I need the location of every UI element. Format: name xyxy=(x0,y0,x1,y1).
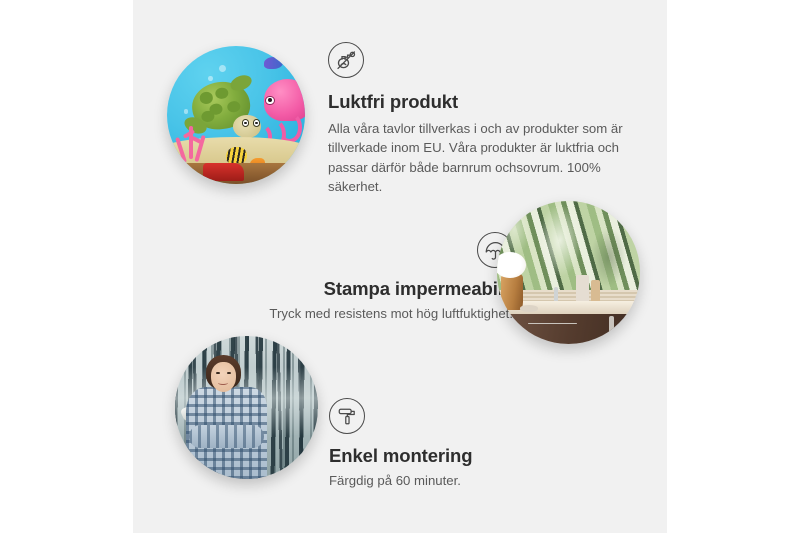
feature-title: Enkel montering xyxy=(329,445,629,467)
feature-mounting: Enkel montering Färgdig på 60 minuter. xyxy=(329,398,629,490)
painter-woman-photo xyxy=(175,336,318,479)
content-panel: Luktfri produkt Alla våra tavlor tillver… xyxy=(133,0,667,533)
promo-banner: Luktfri produkt Alla våra tavlor tillver… xyxy=(0,0,800,533)
feature-waterproof: Stampa impermeabile Tryck med resistens … xyxy=(213,232,513,323)
feature-title: Luktfri produkt xyxy=(328,91,628,113)
bathroom-wallpaper-photo xyxy=(497,201,640,344)
feature-body: Alla våra tavlor tillverkas i och av pro… xyxy=(328,119,628,197)
underwater-cartoon-photo xyxy=(167,46,305,184)
no-odour-spray-bottle-icon xyxy=(328,42,364,78)
feature-odourless: Luktfri produkt Alla våra tavlor tillver… xyxy=(328,42,628,197)
feature-body: Tryck med resistens mot hög luftfuktighe… xyxy=(213,304,513,323)
feature-body: Färgdig på 60 minuter. xyxy=(329,471,629,490)
feature-title: Stampa impermeabile xyxy=(213,278,513,300)
paint-roller-icon xyxy=(329,398,365,434)
